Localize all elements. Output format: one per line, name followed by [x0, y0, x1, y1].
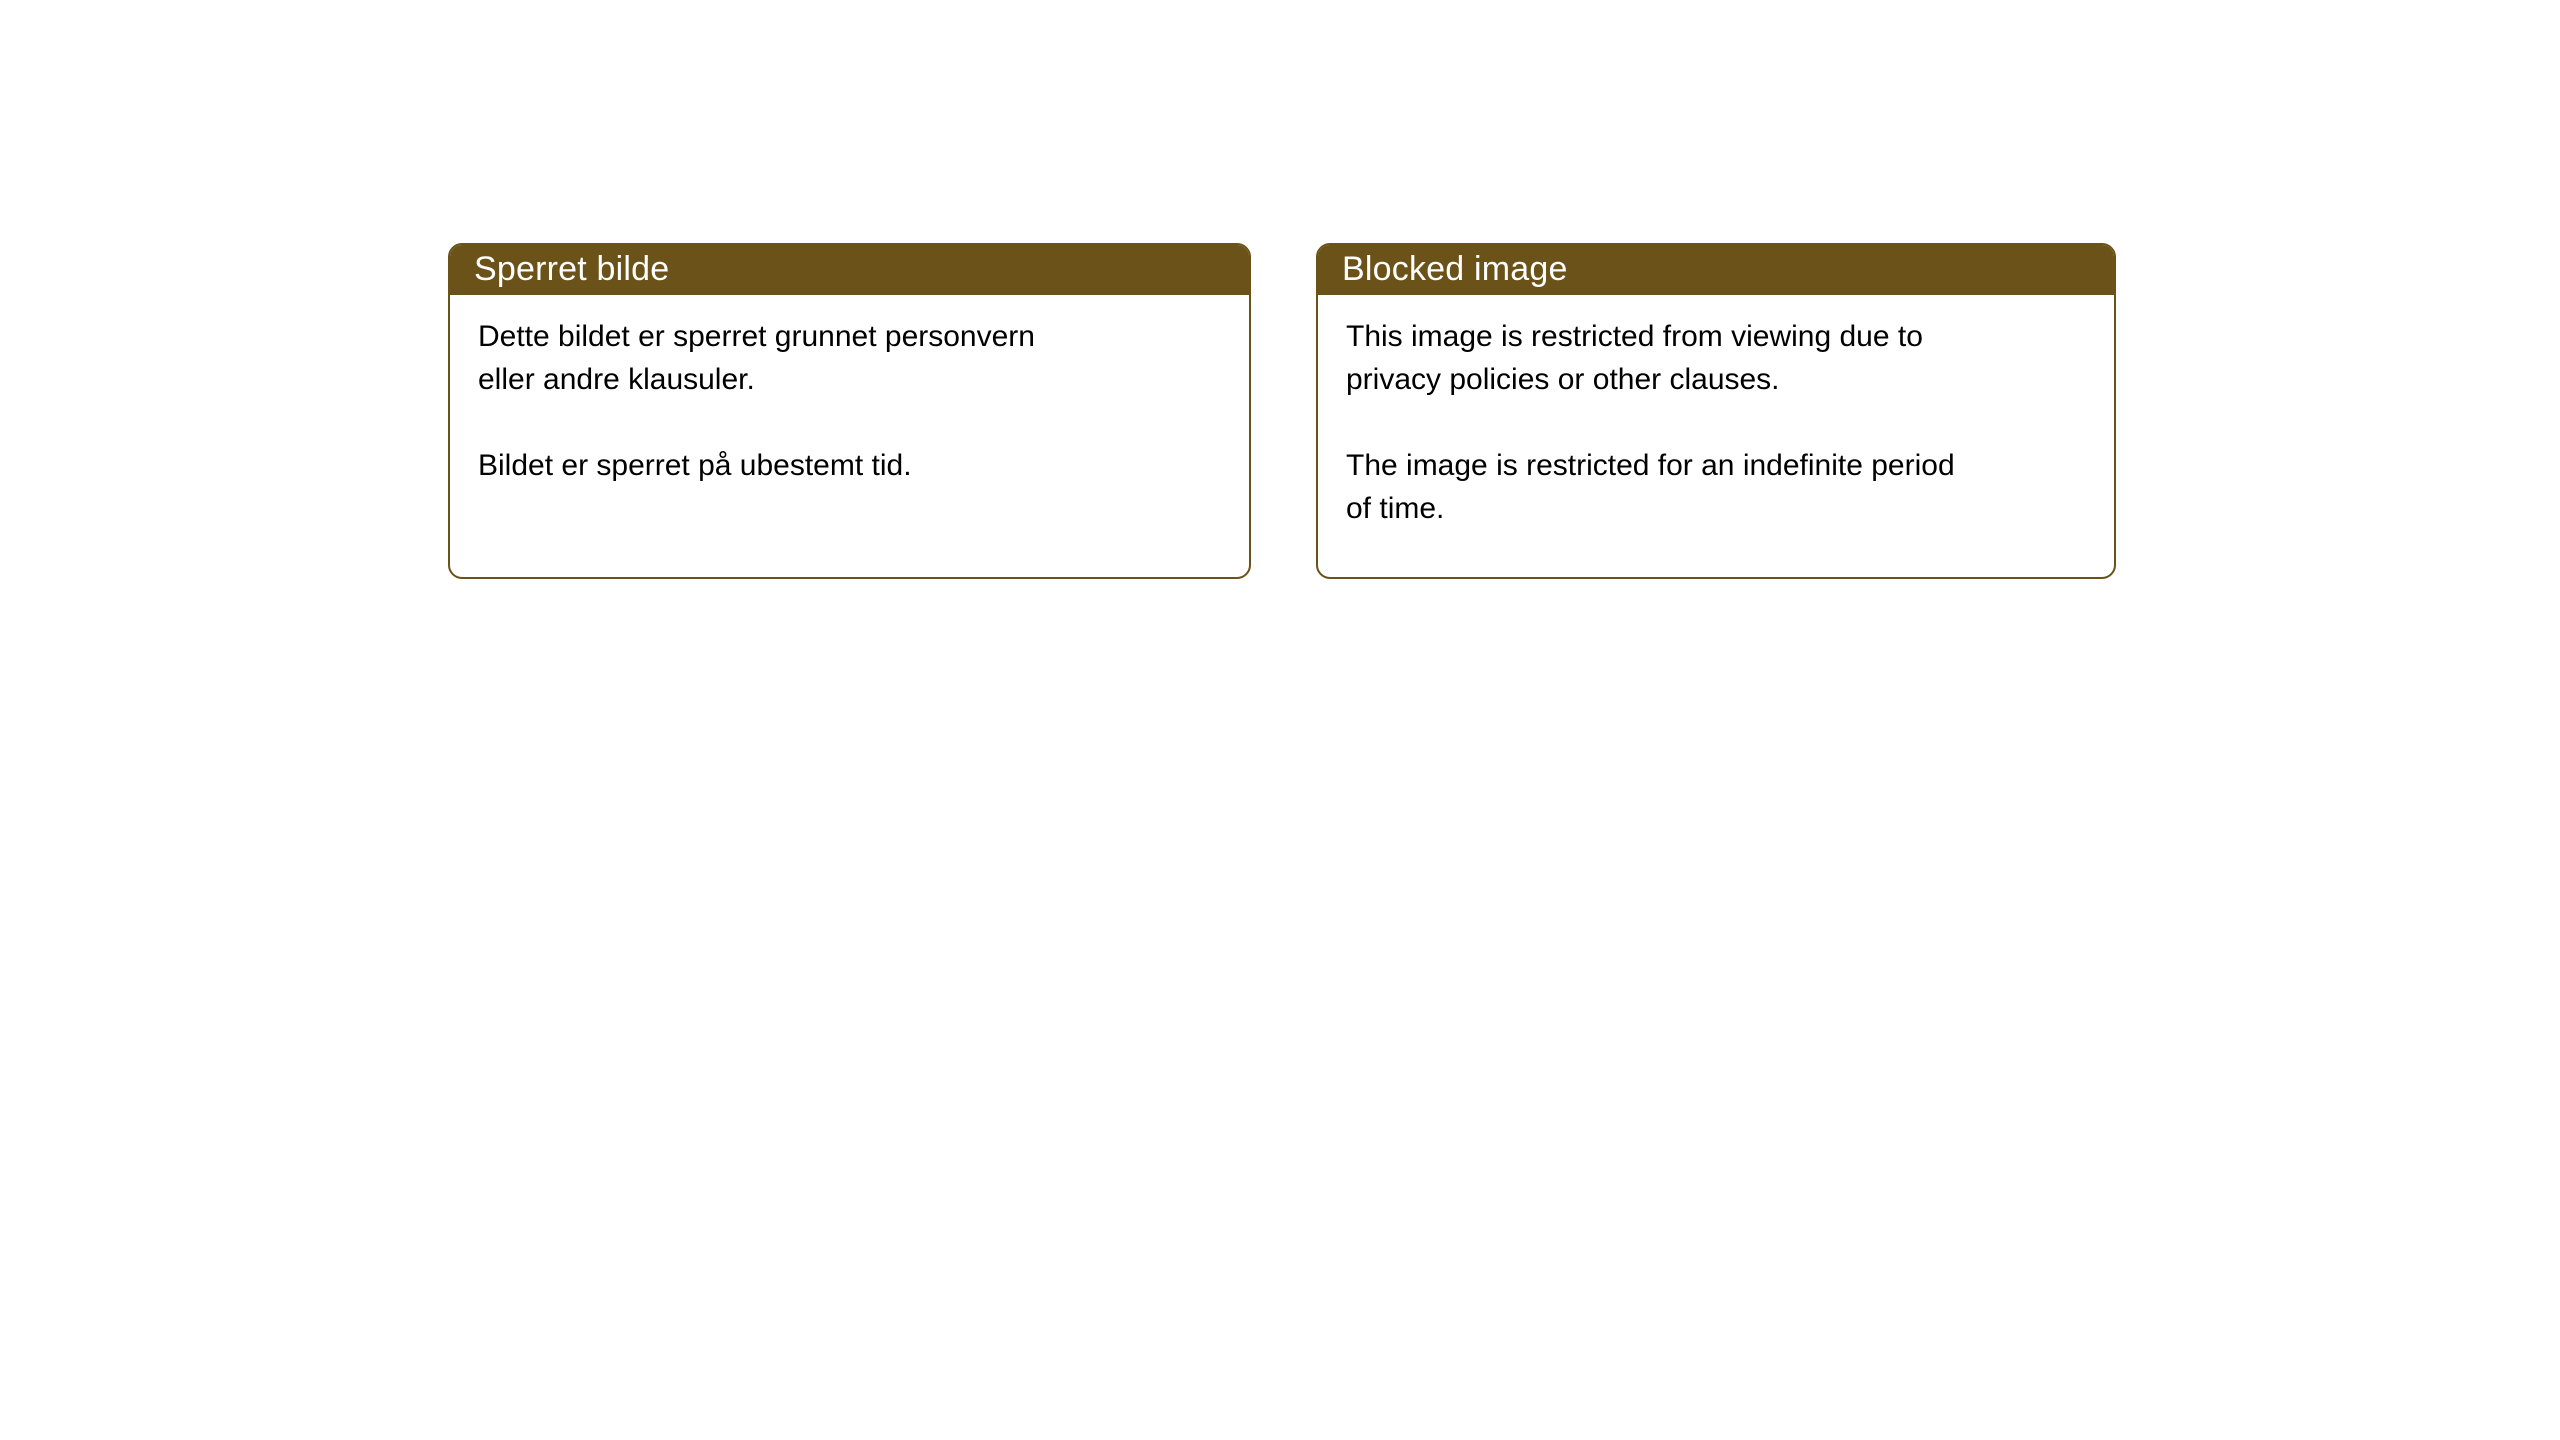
notice-paragraph-duration-en: The image is restricted for an indefinit…	[1346, 444, 2046, 530]
notice-paragraph-reason-no: Dette bildet er sperret grunnet personve…	[478, 315, 1178, 401]
page-root: Sperret bilde Dette bildet er sperret gr…	[0, 0, 2560, 1440]
notice-paragraph-reason-en: This image is restricted from viewing du…	[1346, 315, 2046, 401]
notice-header-en: Blocked image	[1316, 243, 2116, 295]
blocked-image-notice-card-en: Blocked image This image is restricted f…	[1316, 243, 2116, 579]
notice-header-no: Sperret bilde	[448, 243, 1251, 295]
notice-title-en: Blocked image	[1342, 252, 1568, 286]
notice-title-no: Sperret bilde	[474, 252, 669, 286]
notice-paragraph-duration-no: Bildet er sperret på ubestemt tid.	[478, 444, 1178, 487]
notice-body-en: This image is restricted from viewing du…	[1318, 295, 2114, 530]
notice-body-no: Dette bildet er sperret grunnet personve…	[450, 295, 1249, 487]
blocked-image-notice-card-no: Sperret bilde Dette bildet er sperret gr…	[448, 243, 1251, 579]
